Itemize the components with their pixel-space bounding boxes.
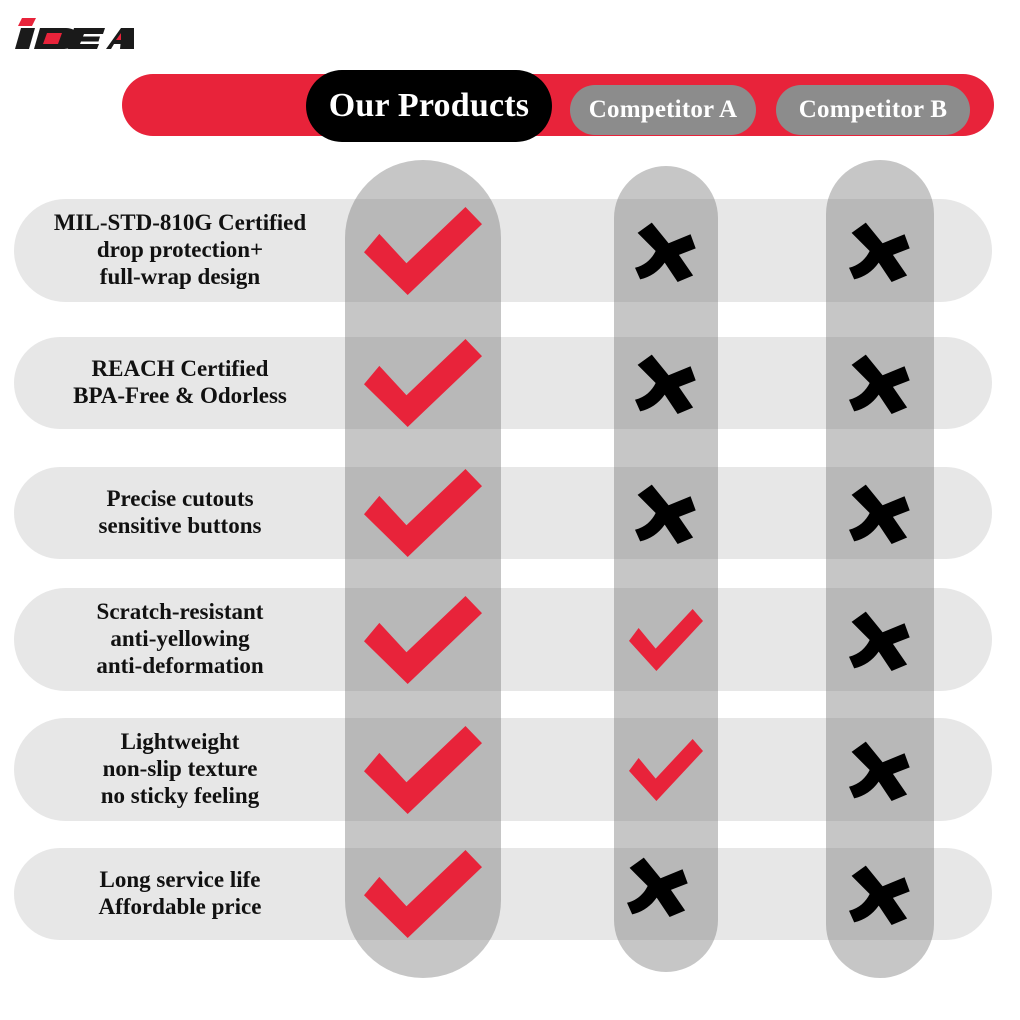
feature-label-line: anti-yellowing: [110, 626, 249, 653]
feature-label-line: drop protection+: [97, 237, 263, 264]
check-icon: [364, 469, 482, 557]
column-header-competitor-b[interactable]: Competitor B: [776, 85, 970, 135]
cross-icon: [629, 482, 703, 544]
feature-label: REACH CertifiedBPA-Free & Odorless: [20, 337, 340, 429]
check-icon: [364, 850, 482, 938]
feature-label: Lightweightnon-slip textureno sticky fee…: [20, 718, 340, 821]
feature-label-line: BPA-Free & Odorless: [73, 383, 287, 410]
feature-label: Precise cutoutssensitive buttons: [20, 467, 340, 559]
feature-label-line: sensitive buttons: [99, 513, 262, 540]
cross-icon: [843, 863, 917, 925]
column-header-our-products[interactable]: Our Products: [306, 70, 552, 142]
column-highlight-competitor-b: [826, 160, 934, 978]
column-header-competitor-a[interactable]: Competitor A: [570, 85, 756, 135]
feature-label-line: Affordable price: [99, 894, 262, 921]
cross-icon: [843, 352, 917, 414]
column-highlight-competitor-a: [614, 166, 718, 972]
brand-logo: [14, 14, 134, 54]
cross-icon: [843, 739, 917, 801]
cross-icon: [843, 220, 917, 282]
feature-label-line: Long service life: [100, 867, 261, 894]
cross-icon: [843, 482, 917, 544]
feature-label-line: anti-deformation: [96, 653, 263, 680]
feature-label-line: non-slip texture: [103, 756, 258, 783]
check-icon: [364, 596, 482, 684]
feature-label-line: MIL-STD-810G Certified: [54, 210, 306, 237]
check-icon: [629, 609, 703, 671]
check-icon: [364, 207, 482, 295]
cross-icon: [629, 352, 703, 414]
feature-label-line: Precise cutouts: [106, 486, 253, 513]
feature-label-line: full-wrap design: [100, 264, 260, 291]
feature-label: Long service lifeAffordable price: [20, 848, 340, 940]
check-icon: [364, 339, 482, 427]
check-icon: [364, 726, 482, 814]
feature-label-line: Scratch-resistant: [97, 599, 264, 626]
feature-label: Scratch-resistantanti-yellowinganti-defo…: [20, 588, 340, 691]
check-icon: [629, 739, 703, 801]
feature-label-line: no sticky feeling: [101, 783, 259, 810]
feature-label-line: REACH Certified: [92, 356, 269, 383]
cross-icon: [843, 609, 917, 671]
feature-label: MIL-STD-810G Certifieddrop protection+fu…: [20, 199, 340, 302]
cross-icon: [629, 220, 703, 282]
cross-icon: [621, 855, 695, 917]
feature-label-line: Lightweight: [121, 729, 240, 756]
